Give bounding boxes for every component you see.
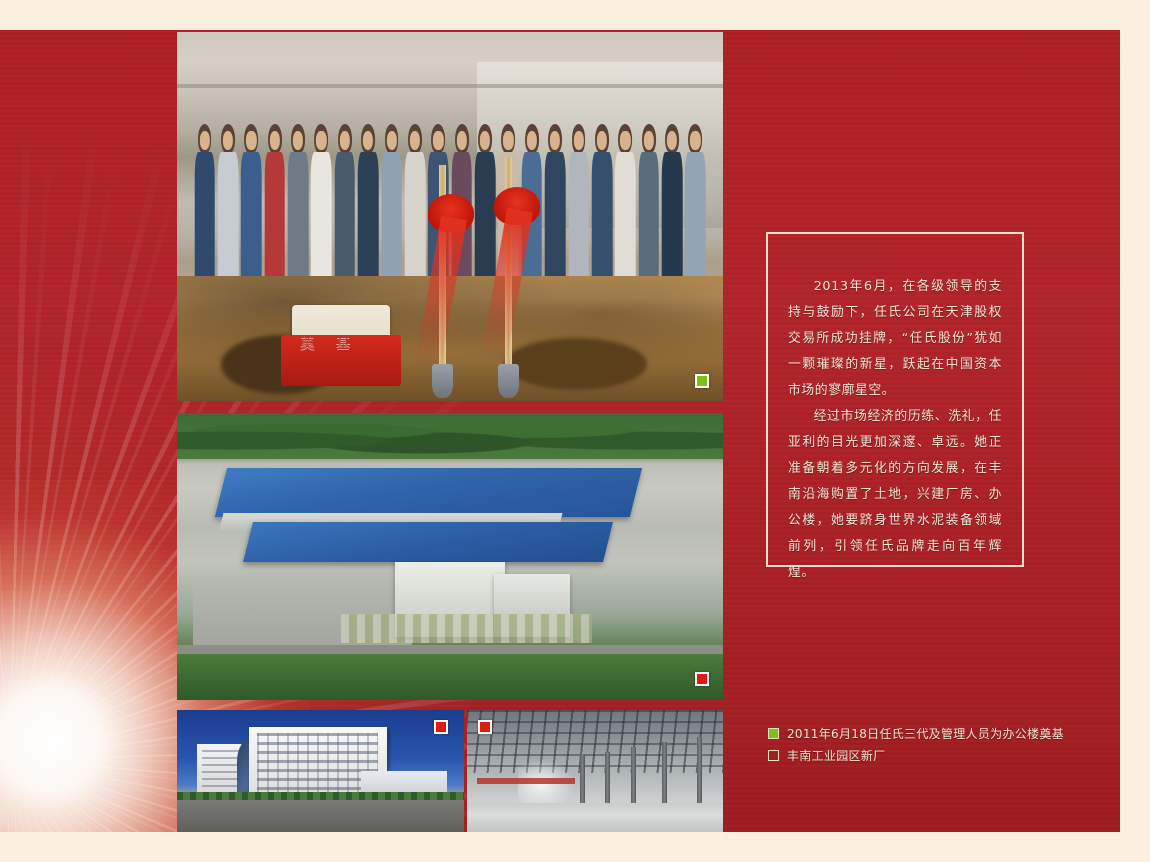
crowd-person <box>567 113 589 290</box>
groundbreaking-ceremony-photo: 奠 基 <box>177 32 723 401</box>
office-building-photo <box>177 710 464 832</box>
interior-column <box>697 737 702 810</box>
crowd-person <box>334 113 356 290</box>
crowd-person <box>287 113 309 290</box>
factory-aerial-render-photo <box>177 413 723 700</box>
green-square-marker <box>768 728 779 739</box>
interior-floor <box>467 803 723 832</box>
interior-column <box>580 754 585 810</box>
interior-column <box>662 742 667 810</box>
caption-row: 2011年6月18日任氏三代及管理人员为办公楼奠基 <box>768 722 1098 744</box>
interior-column <box>631 747 636 810</box>
description-text-panel: 2013年6月，在各级领导的支持与鼓励下，任氏公司在天津股权交易所成功挂牌，“任… <box>766 232 1024 567</box>
crowd-person <box>614 113 636 290</box>
interior-red-band <box>477 778 574 784</box>
green-square-marker <box>695 374 709 388</box>
crowd-person <box>264 113 286 290</box>
description-paragraph-2: 经过市场经济的历练、洗礼，任亚利的目光更加深邃、卓远。她正准备朝着多元化的方向发… <box>788 404 1002 586</box>
crowd-person <box>380 113 402 290</box>
crowd-person <box>591 113 613 290</box>
page-frame-bottom <box>0 832 1150 862</box>
caption-label: 丰南工业园区新厂 <box>787 747 885 764</box>
factory-blue-roof <box>215 468 642 517</box>
brochure-page: 奠 基 <box>0 0 1150 862</box>
foundation-stone-text: 奠 基 <box>300 332 359 353</box>
crowd-person <box>638 113 660 290</box>
crowd-person <box>661 113 683 290</box>
crowd-person <box>217 113 239 290</box>
photo-captions-list: 2011年6月18日任氏三代及管理人员为办公楼奠基 丰南工业园区新厂 <box>768 722 1098 766</box>
office-road <box>177 800 464 832</box>
crowd-person <box>404 113 426 290</box>
ceremony-pit <box>505 338 647 390</box>
crowd-person <box>310 113 332 290</box>
red-square-marker <box>478 720 492 734</box>
crowd-person <box>240 113 262 290</box>
caption-label: 2011年6月18日任氏三代及管理人员为办公楼奠基 <box>787 725 1064 742</box>
red-square-marker <box>695 672 709 686</box>
crowd-person <box>684 113 706 290</box>
interior-column <box>605 752 610 811</box>
crowd-person <box>544 113 566 290</box>
crowd-person <box>193 113 215 290</box>
interior-roof-trusses <box>467 710 723 773</box>
red-square-marker <box>434 720 448 734</box>
description-paragraph-1: 2013年6月，在各级领导的支持与鼓励下，任氏公司在天津股权交易所成功挂牌，“任… <box>788 274 1002 404</box>
factory-parking-lots <box>341 614 592 643</box>
hollow-square-marker <box>768 750 779 761</box>
factory-blue-roof <box>243 522 613 562</box>
ceremony-ceiling-beam <box>177 84 723 88</box>
crowd-person <box>357 113 379 290</box>
crowd-person <box>474 113 496 290</box>
page-frame-top <box>0 0 1150 30</box>
page-frame-right <box>1120 0 1150 862</box>
caption-row: 丰南工业园区新厂 <box>768 744 1098 766</box>
factory-tree-line <box>177 413 723 459</box>
factory-greenbelt <box>177 654 723 700</box>
factory-interior-photo <box>467 710 723 832</box>
